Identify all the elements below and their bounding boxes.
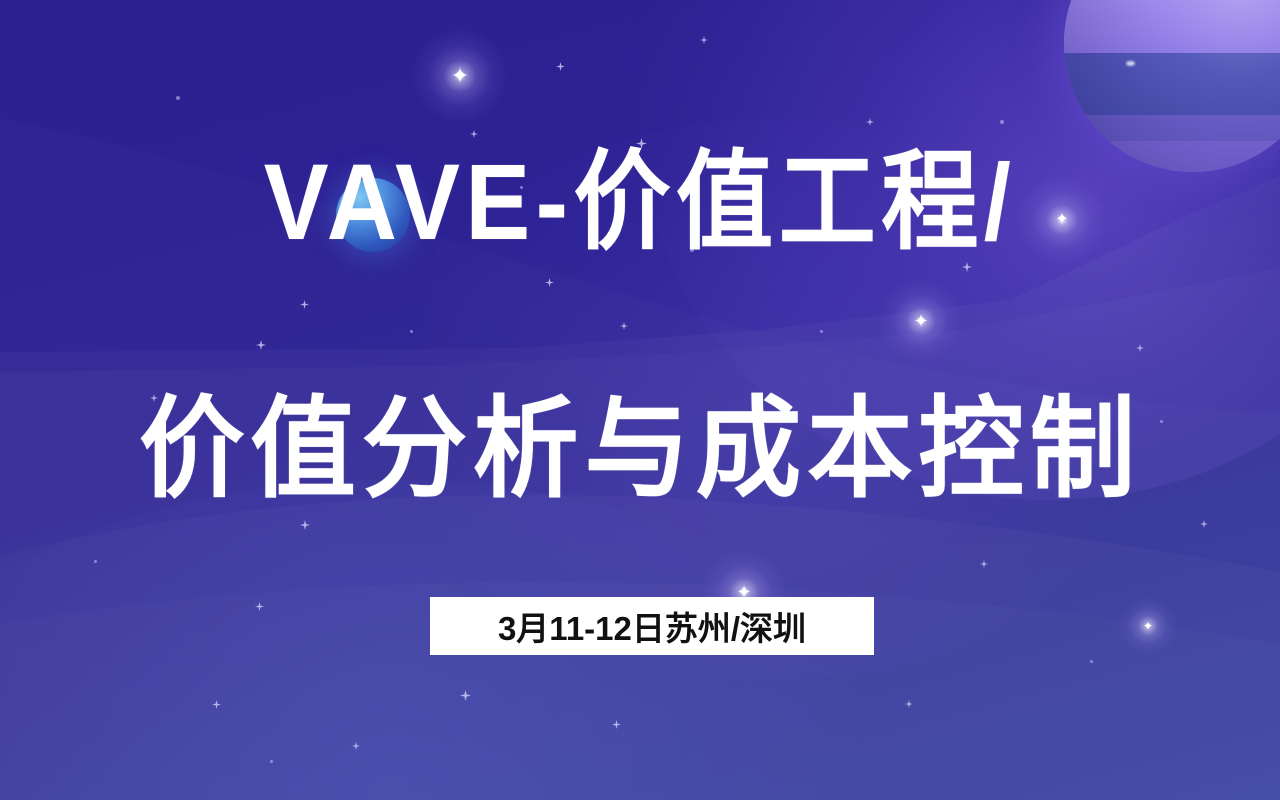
sparkle-star-icon: [176, 96, 180, 100]
glowing-star-icon: ✦: [412, 28, 508, 124]
sparkle-star-icon: [1000, 120, 1004, 124]
sparkle-star-icon: [1136, 344, 1144, 352]
sparkle-star-icon: [1090, 660, 1093, 663]
sparkle-star-icon: [1200, 520, 1208, 528]
sparkle-star-icon: [212, 700, 221, 709]
sparkle-star-icon: [980, 560, 988, 568]
sparkle-star-icon: [410, 330, 413, 333]
sparkle-star-icon: [352, 742, 360, 750]
sparkle-star-icon: [256, 340, 266, 350]
event-poster: ✦ ✦ ✦ ✦ ✦ VAVE-价值工程/ 价值分析与成本控制: [0, 0, 1280, 800]
sparkle-star-icon: [905, 700, 913, 708]
sparkle-star-icon: [962, 262, 972, 272]
title-line-1: VAVE-价值工程/: [64, 143, 1216, 261]
sparkle-star-icon: [460, 690, 471, 701]
sparkle-star-icon: [866, 118, 874, 126]
glowing-star-icon: ✦: [878, 278, 964, 364]
date-location-badge: 3月11-12日苏州/深圳: [430, 597, 874, 655]
title-line-2: 价值分析与成本控制: [26, 388, 1255, 512]
sparkle-star-icon: [270, 760, 273, 763]
glowing-star-icon: ✦: [1118, 596, 1178, 656]
sparkle-star-icon: [300, 300, 309, 309]
sparkle-star-icon: [255, 602, 264, 611]
sparkle-star-icon: [620, 322, 628, 330]
sparkle-star-icon: [470, 130, 478, 138]
sparkle-star-icon: [700, 36, 708, 44]
sparkle-star-icon: [300, 520, 310, 530]
sparkle-star-icon: [94, 560, 97, 563]
sparkle-star-icon: [556, 62, 565, 71]
sparkle-star-icon: [545, 278, 554, 287]
sparkle-star-icon: [612, 720, 621, 729]
sparkle-star-icon: [820, 330, 823, 333]
